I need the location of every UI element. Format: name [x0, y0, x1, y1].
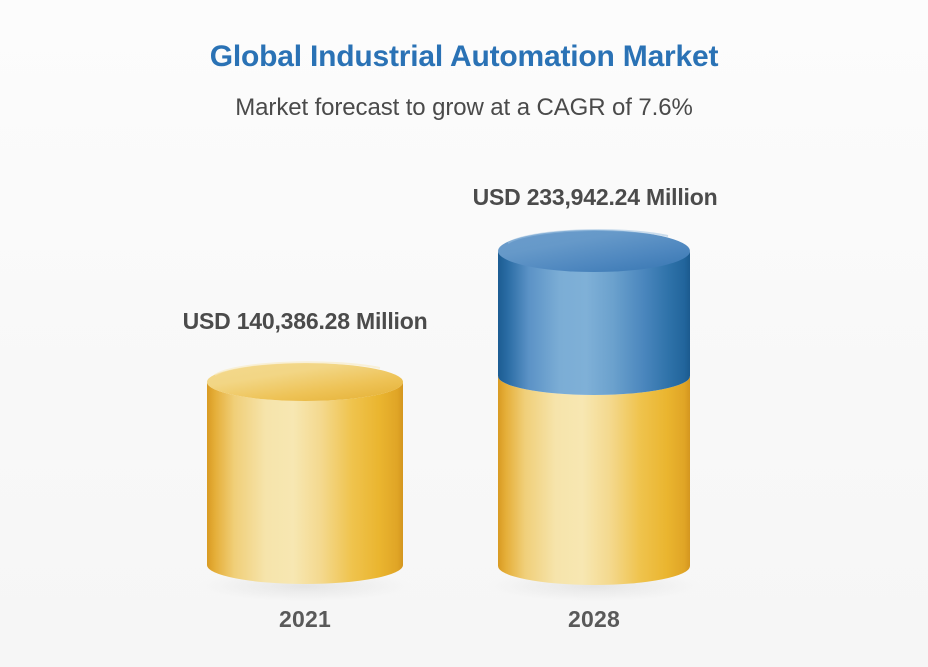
bar-2028-cylinder[interactable] [486, 230, 702, 602]
category-label-2028: 2028 [494, 606, 694, 633]
plot-area: USD 140,386.28 Million USD 233,942.24 Mi… [0, 0, 928, 667]
bar-2028-value-label: USD 233,942.24 Million [390, 184, 800, 211]
bar-2021-body [207, 382, 403, 584]
chart-container: Global Industrial Automation Market Mark… [0, 0, 928, 667]
category-label-2021: 2021 [205, 606, 405, 633]
bar-2028-segment-growth [498, 251, 690, 395]
bar-2021-value-label: USD 140,386.28 Million [100, 308, 510, 335]
bar-2028-segment-base [498, 376, 690, 585]
bar-2021-cylinder[interactable] [197, 362, 413, 602]
